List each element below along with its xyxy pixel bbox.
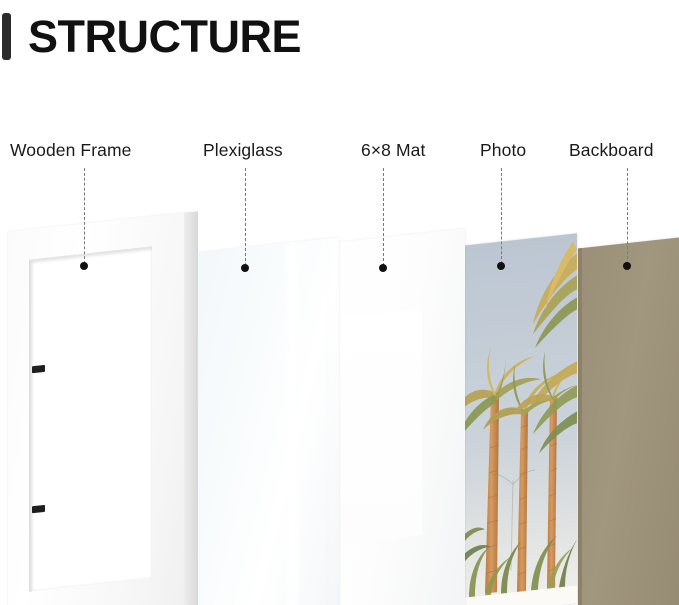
label-backboard: Backboard [569,140,654,161]
layer-photo [455,233,577,605]
leader-dot-plexiglass [241,264,249,272]
layer-wooden-frame [8,212,190,605]
frame-clip-lower [32,505,45,513]
leader-dot-photo [497,262,505,270]
label-mat: 6×8 Mat [361,140,425,161]
label-wooden-frame: Wooden Frame [10,140,132,161]
layer-plexiglass [196,237,339,605]
layer-mat [326,228,465,605]
plexiglass-sheen [283,241,302,605]
infographic-page: STRUCTURE [0,0,679,605]
label-plexiglass: Plexiglass [203,140,283,161]
leader-dot-backboard [623,262,631,270]
leader-line-mat [383,168,385,266]
backboard-left-edge [578,248,582,605]
leader-line-photo [501,168,503,264]
leader-line-backboard [627,168,629,264]
label-photo: Photo [480,140,526,161]
frame-opening [29,246,152,591]
leader-dot-mat [379,264,387,272]
exploded-diagram [0,0,679,605]
frame-clip-upper [32,365,45,373]
frame-right-side-edge [184,211,198,605]
leader-line-wooden-frame [84,168,86,264]
leader-dot-wooden-frame [80,262,88,270]
layer-backboard [578,238,679,605]
leader-line-plexiglass [245,168,247,266]
palm-tree-photo-artwork [455,233,577,605]
